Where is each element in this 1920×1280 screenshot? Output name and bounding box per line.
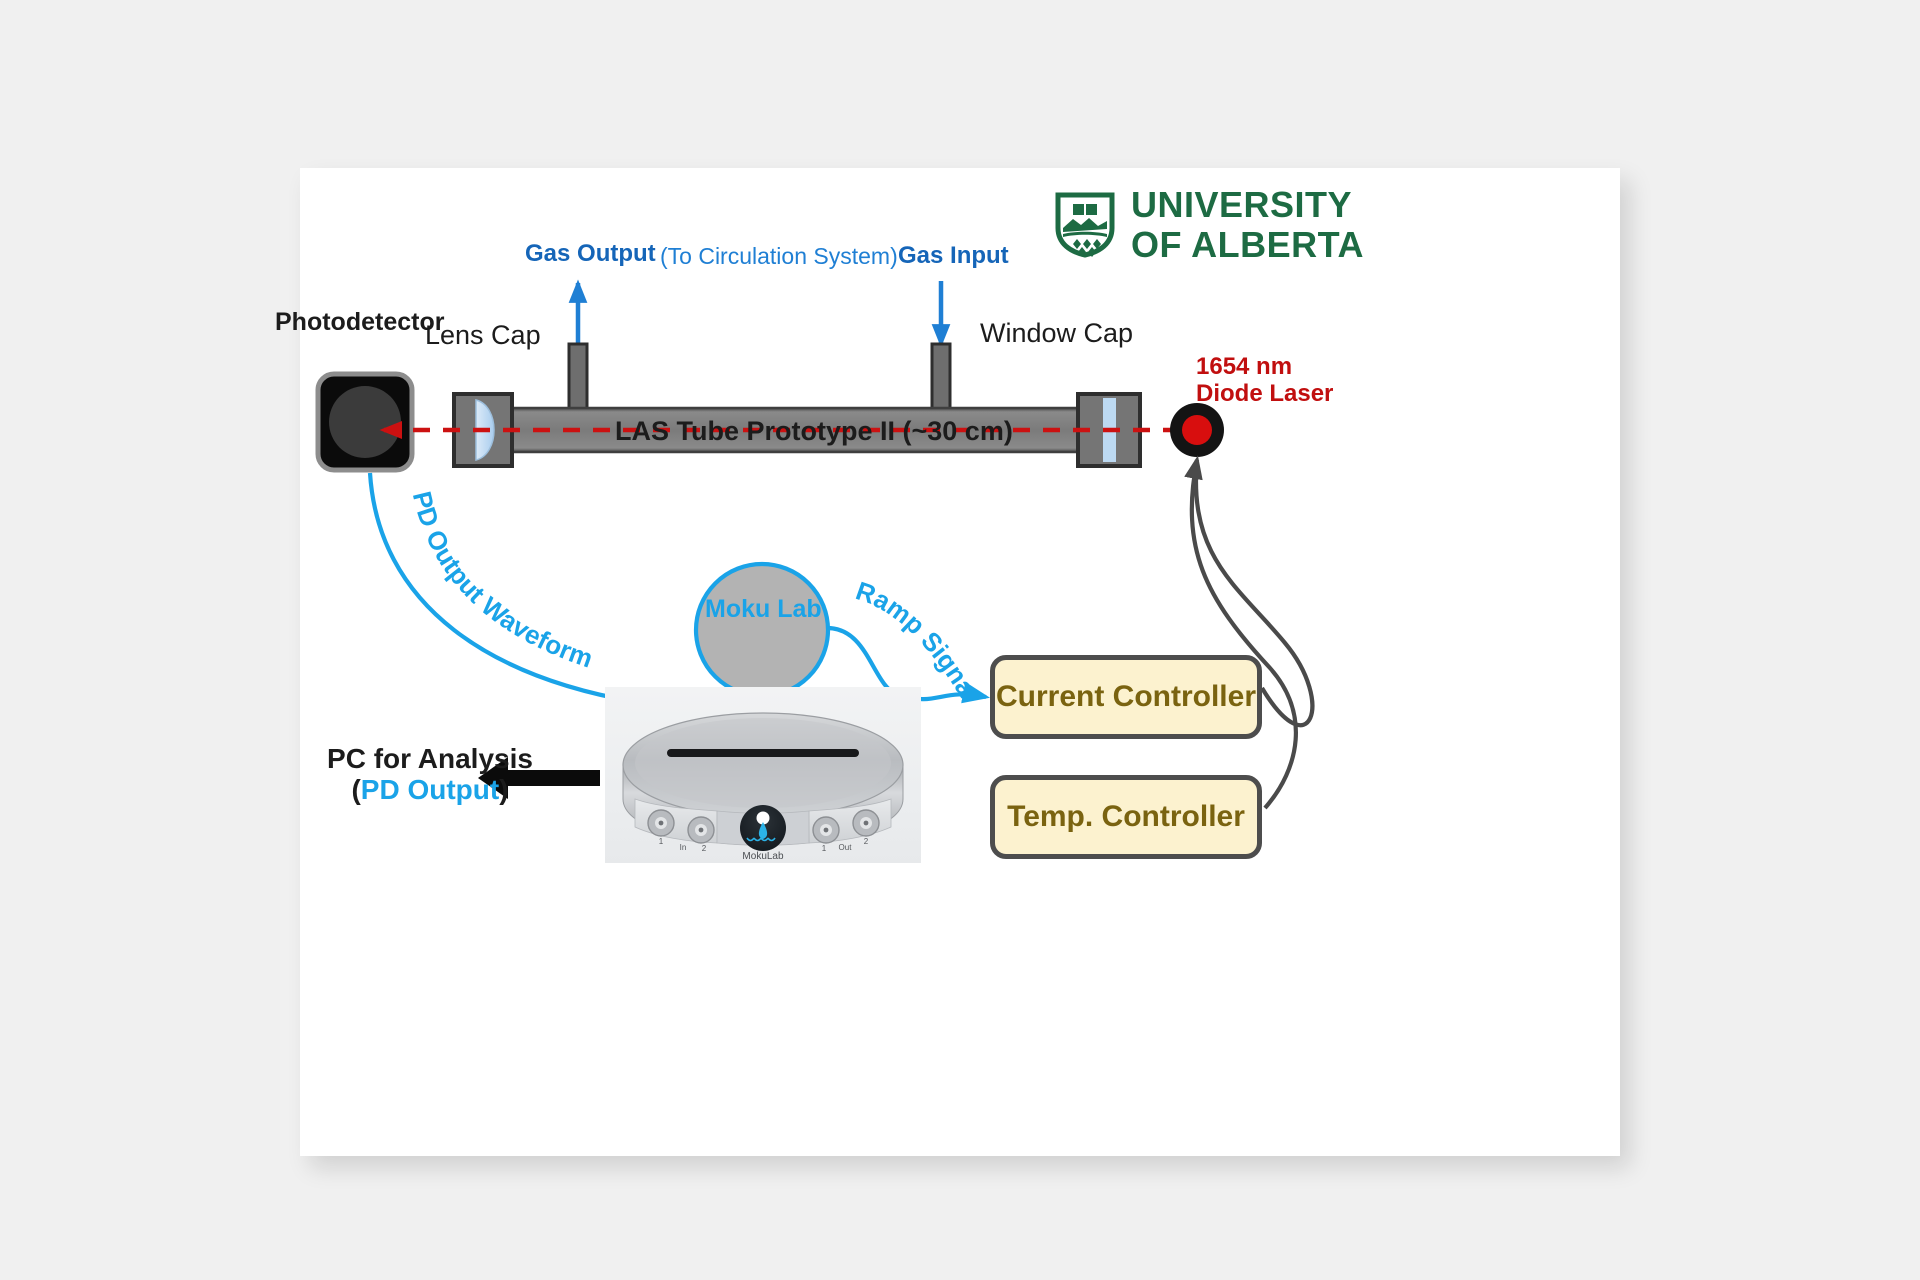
ualberta-wordmark-line1: UNIVERSITY <box>1131 185 1364 225</box>
ualberta-shield-icon <box>1055 192 1115 258</box>
photodetector-label: Photodetector <box>275 308 444 336</box>
temp-controller-box[interactable]: Temp. Controller <box>990 775 1262 859</box>
temp-controller-label: Temp. Controller <box>1007 800 1245 834</box>
moku-port-in-label: In <box>680 843 687 852</box>
moku-port-in-2-label: 2 <box>702 844 707 853</box>
laser-cable-bundle <box>1192 460 1313 808</box>
ualberta-wordmark: UNIVERSITY OF ALBERTA <box>1131 185 1364 266</box>
diode-laser-label-line1: 1654 nm <box>1196 354 1333 381</box>
bnc-in-2 <box>688 817 714 843</box>
pc-paren-close: ) <box>499 774 508 805</box>
current-controller-label: Current Controller <box>996 680 1256 714</box>
moku-port-out-1-label: 1 <box>822 844 827 853</box>
moku-port-in-1-label: 1 <box>659 837 664 846</box>
moku-lab-label: Moku Lab <box>705 595 822 623</box>
schematic-vector-layer <box>300 168 1620 1156</box>
ualberta-wordmark-line2: OF ALBERTA <box>1131 225 1364 265</box>
moku-lab-logo-icon <box>740 805 786 851</box>
las-tube-label: LAS Tube Prototype II (~30 cm) <box>615 416 1013 446</box>
moku-port-out-label: Out <box>839 843 853 852</box>
pc-for-analysis-line2: (PD Output) <box>305 774 555 805</box>
photodetector-icon <box>318 374 412 470</box>
lens-cap-label: Lens Cap <box>425 320 541 350</box>
pc-for-analysis-label: PC for Analysis (PD Output) <box>305 743 555 806</box>
moku-port-out-2-label: 2 <box>864 837 869 846</box>
gas-output-label: Gas Output <box>525 241 656 268</box>
diode-laser-label-line2: Diode Laser <box>1196 381 1333 408</box>
pd-output-text: PD Output <box>361 774 499 805</box>
diode-laser-label: 1654 nm Diode Laser <box>1196 354 1333 408</box>
gas-output-port <box>569 344 587 412</box>
pc-paren-open: ( <box>351 774 360 805</box>
circulation-system-label: (To Circulation System) <box>660 244 898 270</box>
moku-lab-node <box>696 564 828 696</box>
bnc-out-2 <box>853 810 879 836</box>
bnc-in-1 <box>648 810 674 836</box>
ualberta-logo: UNIVERSITY OF ALBERTA <box>1055 185 1364 266</box>
window-cap-label: Window Cap <box>980 318 1133 348</box>
gas-input-label: Gas Input <box>898 243 1009 270</box>
bnc-out-1 <box>813 817 839 843</box>
laser-diode-icon <box>1170 403 1224 457</box>
gas-input-port <box>932 344 950 412</box>
pc-for-analysis-line1: PC for Analysis <box>305 743 555 774</box>
figure-card: UNIVERSITY OF ALBERTA Gas Output (To Cir… <box>300 168 1620 1156</box>
figure-canvas: UNIVERSITY OF ALBERTA Gas Output (To Cir… <box>0 0 1920 1280</box>
pd-output-waveform-arrow <box>370 473 688 709</box>
current-controller-box[interactable]: Current Controller <box>990 655 1262 739</box>
moku-brand-label: MokuLab <box>742 851 784 862</box>
moku-lab-device-photo: 1 In 2 1 Out 2 Mo <box>605 687 921 863</box>
